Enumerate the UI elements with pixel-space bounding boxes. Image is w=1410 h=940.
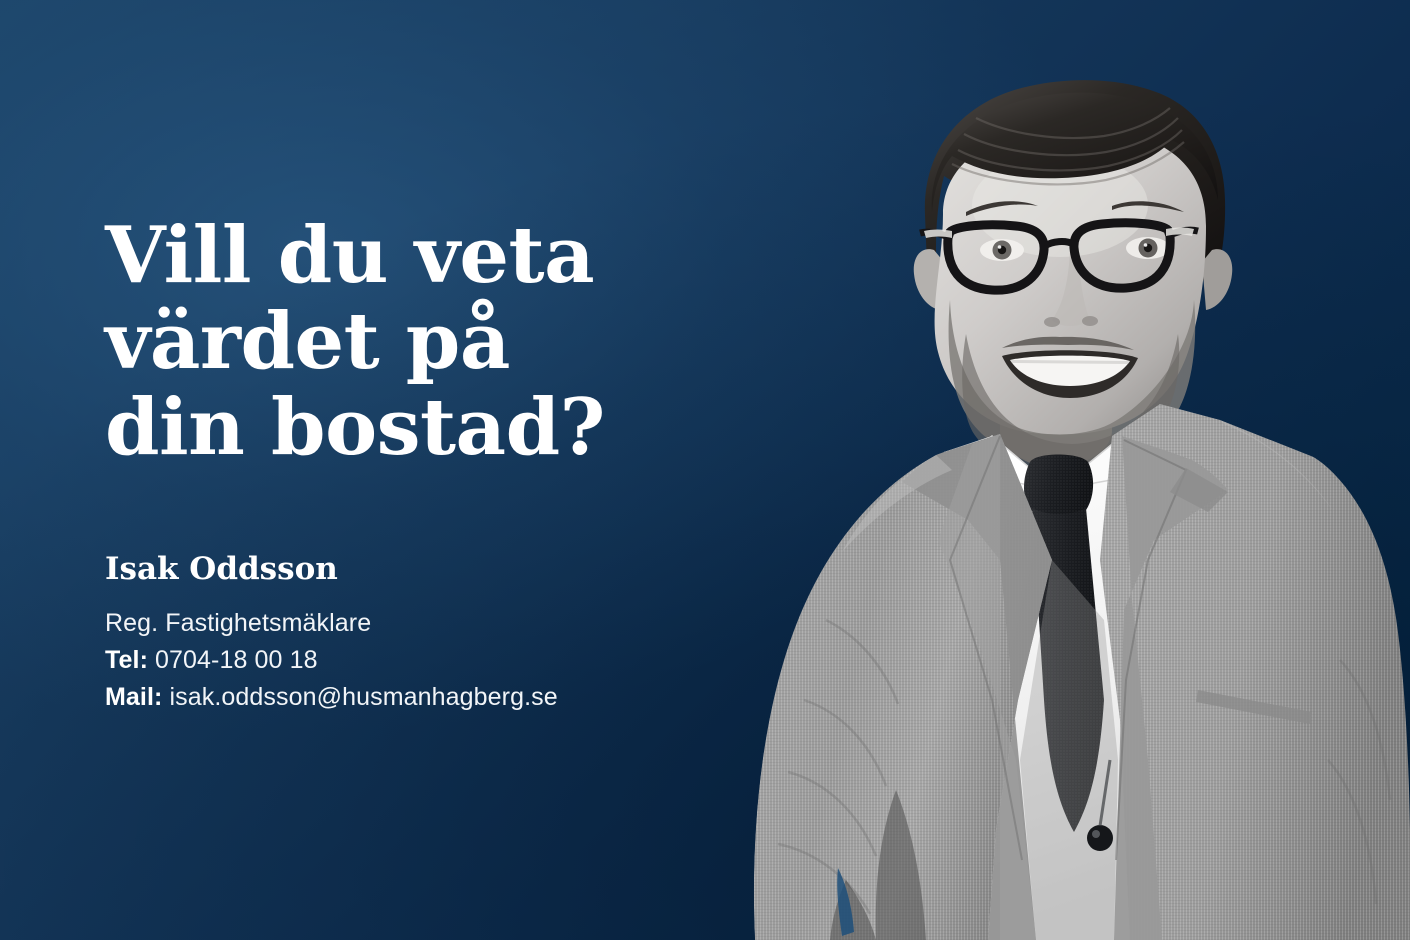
banner-text-column: Vill du veta värdet på din bostad? Isak … — [105, 0, 745, 940]
headline-line-3: din bostad? — [105, 385, 705, 471]
agent-phone: Tel: 0704-18 00 18 — [105, 642, 558, 679]
agent-name: Isak Oddsson — [105, 550, 338, 588]
agent-portrait — [700, 0, 1410, 940]
mail-label: Mail: — [105, 683, 162, 711]
headline-line-1: Vill du veta — [105, 213, 705, 299]
phone-label: Tel: — [105, 646, 148, 674]
jacket-button — [1087, 825, 1113, 851]
mail-value[interactable]: isak.oddsson@husmanhagberg.se — [170, 683, 558, 711]
value-offer-banner: Vill du veta värdet på din bostad? Isak … — [0, 0, 1410, 940]
agent-title: Reg. Fastighetsmäklare — [105, 605, 558, 642]
agent-contact-block: Reg. Fastighetsmäklare Tel: 0704-18 00 1… — [105, 605, 558, 716]
page-title: Vill du veta värdet på din bostad? — [105, 213, 705, 471]
phone-value[interactable]: 0704-18 00 18 — [155, 646, 318, 674]
agent-mail: Mail: isak.oddsson@husmanhagberg.se — [105, 679, 558, 716]
headline-line-2: värdet på — [105, 299, 705, 385]
right-ear — [1202, 249, 1232, 310]
